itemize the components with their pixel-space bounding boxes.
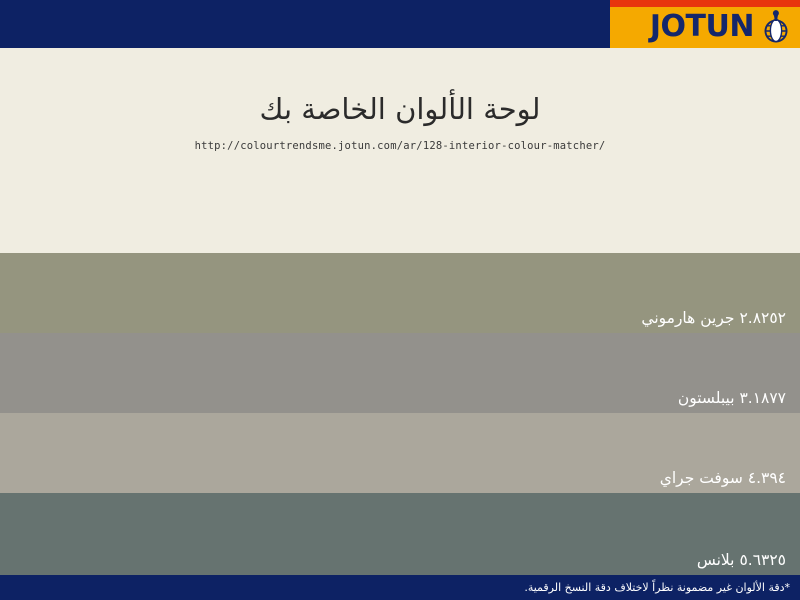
- title-area: لوحة الألوان الخاصة بك http://colourtren…: [0, 48, 800, 253]
- colour-swatch-row[interactable]: ٣.١٨٧٧ بيبلستون: [0, 333, 800, 413]
- jotun-globe-icon: [756, 8, 796, 46]
- jotun-logo[interactable]: JOTUN: [610, 0, 800, 48]
- palette-url[interactable]: http://colourtrendsme.jotun.com/ar/128-i…: [0, 140, 800, 152]
- colour-swatch-row[interactable]: ٥.٦٣٢٥ بلانس: [0, 493, 800, 575]
- colour-swatch-label: ٤.٣٩٤ سوفت جراي: [660, 470, 800, 493]
- header-bar: JOTUN: [0, 0, 800, 48]
- footer-bar: *دقة الألوان غير مضمونة نظراً لاختلاف دق…: [0, 575, 800, 600]
- colour-swatch-label: ٥.٦٣٢٥ بلانس: [697, 552, 800, 575]
- colour-swatch-label: ٢.٨٢٥٢ جرين هارموني: [641, 310, 800, 333]
- colour-swatch-row[interactable]: ٤.٣٩٤ سوفت جراي: [0, 413, 800, 493]
- colour-palette-page: ١.١٤٥٣ كوتون بول ٢.٨٢٥٢ جرين هارموني ٣.١…: [0, 0, 800, 600]
- brand-name: JOTUN: [650, 8, 754, 46]
- colour-swatch-label: ٣.١٨٧٧ بيبلستون: [678, 390, 800, 413]
- page-title: لوحة الألوان الخاصة بك: [0, 92, 800, 126]
- logo-red-stripe: [610, 0, 800, 7]
- colour-swatch-row[interactable]: ٢.٨٢٥٢ جرين هارموني: [0, 253, 800, 333]
- colour-accuracy-disclaimer: *دقة الألوان غير مضمونة نظراً لاختلاف دق…: [524, 581, 800, 594]
